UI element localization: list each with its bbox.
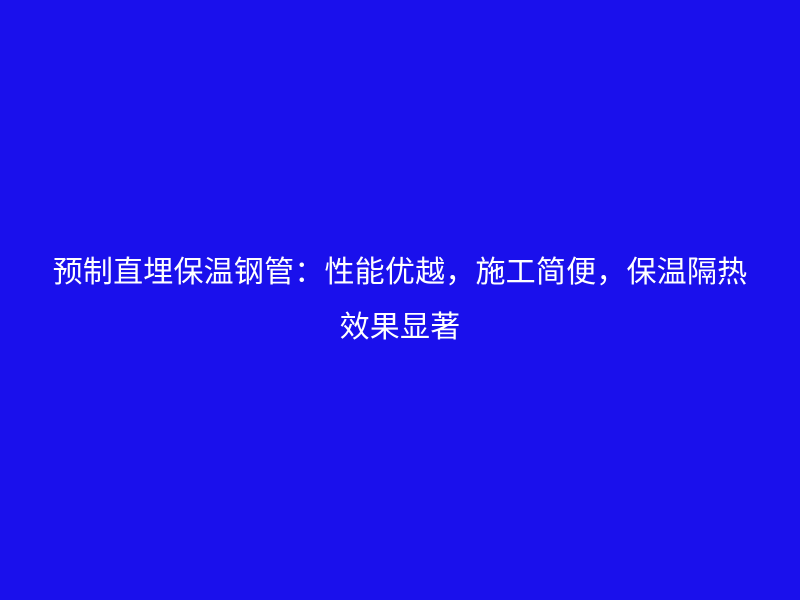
title-card-page: 预制直埋保温钢管：性能优越，施工简便，保温隔热效果显著 xyxy=(0,0,800,600)
title-block: 预制直埋保温钢管：性能优越，施工简便，保温隔热效果显著 xyxy=(0,245,800,355)
page-title: 预制直埋保温钢管：性能优越，施工简便，保温隔热效果显著 xyxy=(52,245,748,355)
